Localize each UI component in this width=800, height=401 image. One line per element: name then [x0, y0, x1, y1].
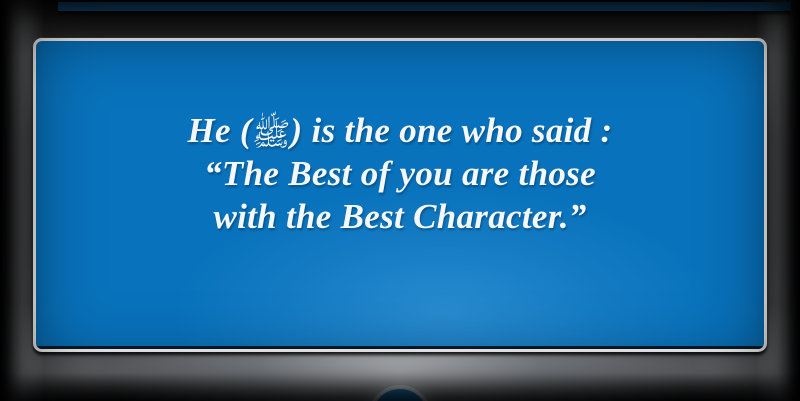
card-bottom-edge	[36, 346, 764, 349]
quote-line-1-suffix: ) is the one who said :	[291, 111, 613, 150]
quote-line-2: “The Best of you are those	[36, 152, 764, 195]
quote-text-block: He (ﷺ) is the one who said : “The Best o…	[36, 109, 764, 238]
quote-line-1-prefix: He (	[188, 111, 252, 150]
quote-line-1: He (ﷺ) is the one who said :	[36, 109, 764, 152]
top-accent-bar-shadow	[58, 11, 791, 16]
sallallahu-alayhi-wa-sallam-icon: ﷺ	[252, 115, 291, 153]
quote-card: He (ﷺ) is the one who said : “The Best o…	[33, 38, 767, 352]
quote-line-3: with the Best Character.”	[36, 195, 764, 238]
top-accent-bar	[58, 2, 791, 11]
quote-graphic: He (ﷺ) is the one who said : “The Best o…	[0, 0, 800, 401]
